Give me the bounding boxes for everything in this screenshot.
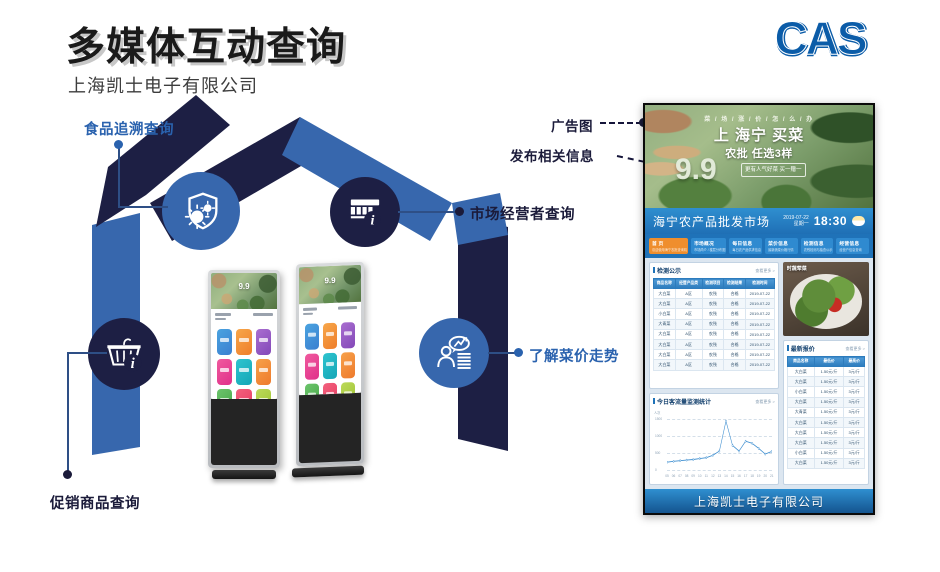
table-cell: 2019-07-22 bbox=[745, 309, 774, 319]
table-row[interactable]: 大白菜A区农残合格2019-07-22 bbox=[654, 350, 775, 360]
connector-dot-market-operator bbox=[455, 207, 464, 216]
chart-x-tick: 08 bbox=[685, 474, 689, 478]
kiosk-tile[interactable] bbox=[236, 329, 251, 355]
callout-publish-info: 发布相关信息 bbox=[510, 145, 594, 165]
kiosk-tile[interactable] bbox=[323, 383, 337, 395]
table-cell: 合格 bbox=[724, 350, 746, 360]
table-cell: 农残 bbox=[702, 339, 724, 349]
kiosk-tile[interactable] bbox=[305, 353, 319, 380]
inspection-table-head: 商品名称经营产品类检测项目检测结果检测时间 bbox=[654, 279, 775, 289]
chart-x-tick: 14 bbox=[724, 474, 728, 478]
chart-x-tick: 10 bbox=[698, 474, 702, 478]
table-cell: 大白菜 bbox=[787, 377, 814, 387]
chart-x-tick: 11 bbox=[705, 474, 708, 478]
kiosk-tile[interactable] bbox=[256, 329, 271, 355]
table-col-header: 经营产品类 bbox=[675, 279, 702, 289]
nav-title: 市场概况 bbox=[694, 240, 725, 247]
table-row[interactable]: 大青菜A区农残合格2019-07-22 bbox=[654, 319, 775, 329]
connector-food-trace-horizontal bbox=[118, 206, 168, 208]
table-col-header: 最低价 bbox=[814, 357, 844, 367]
table-col-header: 最高价 bbox=[844, 357, 865, 367]
chart-x-tick: 17 bbox=[744, 474, 748, 478]
table-cell: 3元/斤 bbox=[844, 377, 865, 387]
kiosk-tile[interactable] bbox=[323, 353, 337, 380]
table-cell: 大白菜 bbox=[787, 428, 814, 438]
diagram-node-food-trace[interactable] bbox=[162, 172, 240, 250]
table-cell: 合格 bbox=[724, 329, 746, 339]
kiosk-device-right: 9.9 bbox=[296, 262, 364, 478]
connector-dot-food-trace bbox=[114, 140, 123, 149]
table-cell: 大白菜 bbox=[654, 360, 676, 370]
table-col-header: 检测项目 bbox=[702, 279, 724, 289]
nav-button-market-overview[interactable]: 市场概况 市场简介 / 楼层分布图 bbox=[691, 238, 726, 254]
table-cell: A区 bbox=[675, 339, 702, 349]
nav-title: 首 页 bbox=[652, 240, 687, 247]
table-cell: 3元/斤 bbox=[844, 397, 865, 407]
table-cell: 大白菜 bbox=[787, 417, 814, 427]
quotes-table: 商品名称最低价最高价 大白菜1.50元/斤3元/斤大白菜1.50元/斤3元/斤小… bbox=[787, 356, 865, 469]
chart-y-tick: 1500 bbox=[655, 417, 662, 421]
table-cell: 小白菜 bbox=[787, 448, 814, 458]
content-column-right: 时蔬荤菜 最新报价 查看更多 > 商品名称最低价最高价 大白菜1.50元/斤3元… bbox=[783, 262, 869, 485]
ad-top-line: 菜 / 场 / 涨 / 价 / 怎 / 么 / 办 bbox=[645, 114, 873, 123]
table-cell: 2019-07-22 bbox=[745, 350, 774, 360]
ad-badge: 更有人气好菜 买一赠一 bbox=[741, 163, 806, 177]
kiosk-left-header bbox=[211, 309, 277, 323]
table-cell: 3元/斤 bbox=[844, 428, 865, 438]
table-row[interactable]: 小白菜A区农残合格2019-07-22 bbox=[654, 309, 775, 319]
diagram-node-price-trend[interactable] bbox=[419, 318, 489, 388]
table-row[interactable]: 小白菜1.50元/斤3元/斤 bbox=[787, 387, 864, 397]
kiosk-tile[interactable] bbox=[217, 329, 232, 355]
panel-quotes-header: 最新报价 查看更多 > bbox=[787, 344, 865, 353]
connector-promotion-vertical bbox=[67, 352, 69, 474]
nav-title: 每日信息 bbox=[732, 240, 761, 247]
kiosk-tile[interactable] bbox=[217, 359, 232, 385]
table-row[interactable]: 大白菜1.50元/斤3元/斤 bbox=[787, 428, 864, 438]
nav-sub: 经营户信息查询 bbox=[839, 247, 868, 252]
table-cell: 农残 bbox=[702, 299, 724, 309]
callout-ad-image: 广告图 bbox=[551, 115, 593, 135]
table-cell: 小白菜 bbox=[654, 309, 676, 319]
table-cell: 1.50元/斤 bbox=[814, 428, 844, 438]
chart-x-tick: 15 bbox=[731, 474, 735, 478]
table-cell: 合格 bbox=[724, 309, 746, 319]
kiosk-screen-mockup: 菜 / 场 / 涨 / 价 / 怎 / 么 / 办 上 海宁 买菜 农批 任选3… bbox=[643, 103, 875, 515]
date-block: 2019-07-22 星期一 bbox=[783, 215, 809, 228]
table-col-header: 商品名称 bbox=[787, 357, 814, 367]
table-col-header: 检测时间 bbox=[745, 279, 774, 289]
page-title: 多媒体互动查询 bbox=[66, 16, 346, 72]
kiosk-right-frame: 9.9 bbox=[296, 262, 364, 467]
kiosk-tile[interactable] bbox=[305, 383, 319, 395]
table-col-header: 检测结果 bbox=[724, 279, 746, 289]
chart-plot-area: 1500100050000506070809101112131415161718… bbox=[667, 419, 772, 470]
kiosk-left-ad: 9.9 bbox=[211, 273, 277, 309]
table-cell: 合格 bbox=[724, 299, 746, 309]
chart-x-tick: 19 bbox=[757, 474, 761, 478]
chart-x-tick: 05 bbox=[665, 474, 669, 478]
table-cell: 农残 bbox=[702, 350, 724, 360]
connector-dot-promotion bbox=[63, 470, 72, 479]
table-cell: 3元/斤 bbox=[844, 458, 865, 468]
chart-x-tick: 16 bbox=[737, 474, 741, 478]
chart-x-tick: 06 bbox=[672, 474, 676, 478]
nav-button-inspection-info[interactable]: 检测信息 农残检测与抽查公示 bbox=[801, 238, 834, 254]
nav-sub: 欢迎使用海宁农批查询机 bbox=[652, 247, 687, 252]
panel-inspection-title: 检测公示 bbox=[653, 266, 681, 275]
panel-quotes: 最新报价 查看更多 > 商品名称最低价最高价 大白菜1.50元/斤3元/斤大白菜… bbox=[783, 340, 869, 485]
traffic-chart: 人次 1500100050000506070809101112131415161… bbox=[653, 409, 775, 481]
quotes-table-head: 商品名称最低价最高价 bbox=[787, 357, 864, 367]
table-cell: 农残 bbox=[702, 289, 724, 299]
panel-quotes-more[interactable]: 查看更多 > bbox=[846, 346, 865, 352]
table-cell: 合格 bbox=[724, 319, 746, 329]
table-cell: 1.50元/斤 bbox=[814, 387, 844, 397]
connector-promotion-horizontal bbox=[67, 352, 107, 354]
table-cell: 1.50元/斤 bbox=[814, 377, 844, 387]
table-row[interactable]: 大白菜A区农残合格2019-07-22 bbox=[654, 329, 775, 339]
diagram-node-promotion[interactable]: i bbox=[88, 318, 160, 390]
table-row[interactable]: 大白菜1.50元/斤3元/斤 bbox=[787, 377, 864, 387]
quotes-table-body: 大白菜1.50元/斤3元/斤大白菜1.50元/斤3元/斤小白菜1.50元/斤3元… bbox=[787, 367, 864, 469]
table-cell: 农残 bbox=[702, 360, 724, 370]
table-cell: A区 bbox=[675, 319, 702, 329]
connector-market-operator bbox=[398, 211, 460, 213]
table-cell: 大白菜 bbox=[787, 397, 814, 407]
table-row[interactable]: 大白菜1.50元/斤3元/斤 bbox=[787, 367, 864, 377]
diagram-node-market-operator[interactable]: i bbox=[330, 177, 400, 247]
panel-chart-header: 今日客流量监测统计 查看更多 > bbox=[653, 397, 775, 406]
table-cell: 3元/斤 bbox=[844, 367, 865, 377]
kiosk-left-tile-grid[interactable] bbox=[211, 323, 277, 399]
nav-button-price-info[interactable]: 菜价信息 最新蔬菜价格行情 bbox=[765, 238, 798, 254]
time-value: 18:30 bbox=[814, 214, 847, 228]
cloud-sun-icon bbox=[852, 216, 865, 226]
table-cell: 大白菜 bbox=[654, 329, 676, 339]
connector-food-trace-vertical bbox=[118, 145, 120, 207]
table-cell: 2019-07-22 bbox=[745, 360, 774, 370]
nav-sub: 农残检测与抽查公示 bbox=[804, 247, 833, 252]
title-bar-right: 2019-07-22 星期一 18:30 bbox=[783, 214, 865, 228]
table-cell: 大白菜 bbox=[787, 367, 814, 377]
diagram-label-price-trend: 了解菜价走势 bbox=[529, 345, 619, 366]
kiosk-tile[interactable] bbox=[256, 389, 271, 399]
kiosk-tile[interactable] bbox=[341, 322, 355, 349]
table-cell: 大白菜 bbox=[654, 350, 676, 360]
table-cell: 1.50元/斤 bbox=[814, 438, 844, 448]
table-cell: 合格 bbox=[724, 339, 746, 349]
table-cell: 2019-07-22 bbox=[745, 319, 774, 329]
table-col-header: 商品名称 bbox=[654, 279, 676, 289]
table-cell: 小白菜 bbox=[787, 387, 814, 397]
table-cell: A区 bbox=[675, 299, 702, 309]
table-cell: 2019-07-22 bbox=[745, 299, 774, 309]
table-cell: 3元/斤 bbox=[844, 387, 865, 397]
panel-chart-title: 今日客流量监测统计 bbox=[653, 397, 711, 406]
table-cell: 大白菜 bbox=[654, 289, 676, 299]
table-cell: 大白菜 bbox=[654, 339, 676, 349]
store-info-icon: i bbox=[345, 192, 385, 232]
table-cell: A区 bbox=[675, 309, 702, 319]
table-cell: 1.50元/斤 bbox=[814, 417, 844, 427]
chart-x-tick: 07 bbox=[678, 474, 682, 478]
kiosk-right-tile-grid[interactable] bbox=[299, 316, 361, 395]
chart-ylabel: 人次 bbox=[654, 410, 660, 415]
table-cell: 大青菜 bbox=[654, 319, 676, 329]
nav-sub: 每日农产品供求信息 bbox=[732, 247, 761, 252]
kiosk-device-left: 9.9 bbox=[208, 270, 280, 479]
nav-button-home[interactable]: 首 页 欢迎使用海宁农批查询机 bbox=[649, 238, 688, 254]
person-chart-icon bbox=[433, 332, 475, 374]
table-cell: 3元/斤 bbox=[844, 438, 865, 448]
table-row[interactable]: 大白菜1.50元/斤3元/斤 bbox=[787, 417, 864, 427]
diagram-label-food-trace: 食品追溯查询 bbox=[84, 118, 174, 139]
kiosk-left-frame: 9.9 bbox=[208, 270, 280, 468]
kiosk-tile[interactable] bbox=[341, 352, 355, 379]
chart-x-tick: 20 bbox=[763, 474, 767, 478]
table-cell: 1.50元/斤 bbox=[814, 407, 844, 417]
table-row[interactable]: 大白菜A区农残合格2019-07-22 bbox=[654, 299, 775, 309]
kiosk-tile[interactable] bbox=[305, 323, 319, 350]
ad-price: 9.9 bbox=[675, 153, 717, 187]
kiosk-right-body bbox=[299, 393, 361, 463]
panel-traffic-chart: 今日客流量监测统计 查看更多 > 人次 15001000500005060708… bbox=[649, 393, 779, 485]
panel-chart-more[interactable]: 查看更多 > bbox=[755, 399, 774, 405]
table-cell: 农残 bbox=[702, 329, 724, 339]
shield-virus-icon bbox=[178, 188, 224, 234]
table-cell: 3元/斤 bbox=[844, 407, 865, 417]
chart-x-tick: 18 bbox=[750, 474, 754, 478]
dish-photo[interactable]: 时蔬荤菜 bbox=[783, 262, 869, 336]
table-row[interactable]: 大白菜1.50元/斤3元/斤 bbox=[787, 397, 864, 407]
chart-x-tick: 09 bbox=[691, 474, 695, 478]
table-row[interactable]: 大白菜A区农残合格2019-07-22 bbox=[654, 360, 775, 370]
table-cell: 2019-07-22 bbox=[745, 289, 774, 299]
ad-main-text: 上 海宁 买菜 bbox=[645, 124, 873, 145]
chart-x-tick: 13 bbox=[718, 474, 722, 478]
basket-info-icon: i bbox=[103, 333, 145, 375]
connector-dot-price-trend bbox=[514, 348, 523, 357]
panel-inspection: 检测公示 查看更多 > 商品名称经营产品类检测项目检测结果检测时间 大白菜A区农… bbox=[649, 262, 779, 389]
chart-x-tick: 21 bbox=[770, 474, 774, 478]
kiosk-tile[interactable] bbox=[323, 323, 337, 350]
kiosk-right-header bbox=[299, 302, 361, 318]
nav-sub: 市场简介 / 楼层分布图 bbox=[694, 247, 725, 252]
nav-title: 检测信息 bbox=[804, 240, 833, 247]
table-row[interactable]: 大白菜A区农残合格2019-07-22 bbox=[654, 339, 775, 349]
table-row[interactable]: 大青菜1.50元/斤3元/斤 bbox=[787, 407, 864, 417]
chart-y-tick: 1000 bbox=[655, 434, 662, 438]
table-cell: 1.50元/斤 bbox=[814, 367, 844, 377]
table-cell: 1.50元/斤 bbox=[814, 448, 844, 458]
table-cell: 合格 bbox=[724, 289, 746, 299]
inspection-table: 商品名称经营产品类检测项目检测结果检测时间 大白菜A区农残合格2019-07-2… bbox=[653, 278, 775, 371]
kiosk-tile[interactable] bbox=[236, 359, 251, 385]
table-cell: A区 bbox=[675, 289, 702, 299]
table-cell: 1.50元/斤 bbox=[814, 397, 844, 407]
nav-title: 经营信息 bbox=[839, 240, 868, 247]
inspection-table-body: 大白菜A区农残合格2019-07-22大白菜A区农残合格2019-07-22小白… bbox=[654, 289, 775, 371]
screen-ad-banner[interactable]: 菜 / 场 / 涨 / 价 / 怎 / 么 / 办 上 海宁 买菜 农批 任选3… bbox=[645, 105, 873, 208]
cas-logo-text: CAS bbox=[774, 11, 865, 65]
panel-quotes-title: 最新报价 bbox=[787, 344, 815, 353]
callout-line-ad-image bbox=[600, 122, 642, 124]
table-cell: 3元/斤 bbox=[844, 448, 865, 458]
screen-title-bar: 海宁农产品批发市场 2019-07-22 星期一 18:30 bbox=[645, 208, 873, 234]
table-row[interactable]: 小白菜1.50元/斤3元/斤 bbox=[787, 448, 864, 458]
kiosk-left-base bbox=[212, 470, 276, 479]
table-row[interactable]: 大白菜1.50元/斤3元/斤 bbox=[787, 458, 864, 468]
kiosk-left-body bbox=[211, 399, 277, 465]
screen-content: 菜 / 场 / 涨 / 价 / 怎 / 么 / 办 上 海宁 买菜 农批 任选3… bbox=[645, 105, 873, 513]
table-cell: 大白菜 bbox=[787, 438, 814, 448]
slide-canvas: 多媒体互动查询 上海凯士电子有限公司 CAS bbox=[0, 0, 940, 572]
svg-text:i: i bbox=[371, 213, 375, 229]
dish-tag: 时蔬荤菜 bbox=[787, 265, 807, 272]
kiosk-left-screen[interactable]: 9.9 bbox=[211, 273, 277, 399]
cas-logo: CAS bbox=[722, 12, 918, 64]
table-cell: 合格 bbox=[724, 360, 746, 370]
nav-button-operator-info[interactable]: 经营信息 经营户信息查询 bbox=[836, 238, 869, 254]
market-name: 海宁农产品批发市场 bbox=[653, 213, 770, 230]
kiosk-tile[interactable] bbox=[256, 359, 271, 385]
table-row[interactable]: 大白菜1.50元/斤3元/斤 bbox=[787, 438, 864, 448]
table-cell: A区 bbox=[675, 350, 702, 360]
table-cell: 农残 bbox=[702, 319, 724, 329]
content-column-left: 检测公示 查看更多 > 商品名称经营产品类检测项目检测结果检测时间 大白菜A区农… bbox=[649, 262, 779, 485]
screen-main-content: 检测公示 查看更多 > 商品名称经营产品类检测项目检测结果检测时间 大白菜A区农… bbox=[645, 258, 873, 489]
table-cell: 大青菜 bbox=[787, 407, 814, 417]
nav-button-daily-info[interactable]: 每日信息 每日农产品供求信息 bbox=[729, 238, 762, 254]
table-row[interactable]: 大白菜A区农残合格2019-07-22 bbox=[654, 289, 775, 299]
kiosk-tile[interactable] bbox=[236, 389, 251, 399]
table-cell: A区 bbox=[675, 329, 702, 339]
kiosk-tile[interactable] bbox=[217, 389, 232, 399]
panel-inspection-more[interactable]: 查看更多 > bbox=[755, 268, 774, 274]
table-cell: 大白菜 bbox=[654, 299, 676, 309]
table-cell: 农残 bbox=[702, 309, 724, 319]
diagram-label-promotion: 促销商品查询 bbox=[50, 492, 140, 513]
chart-gridline bbox=[667, 470, 772, 471]
chart-line-series bbox=[667, 419, 772, 464]
diagram-label-market-operator: 市场经营者查询 bbox=[470, 203, 575, 224]
chart-y-tick: 0 bbox=[655, 468, 657, 472]
nav-sub: 最新蔬菜价格行情 bbox=[768, 247, 797, 252]
kiosk-right-ad: 9.9 bbox=[299, 265, 361, 304]
nav-title: 菜价信息 bbox=[768, 240, 797, 247]
weekday-value: 星期一 bbox=[783, 221, 809, 227]
table-cell: 1.50元/斤 bbox=[814, 458, 844, 468]
table-cell: 大白菜 bbox=[787, 458, 814, 468]
chart-x-tick: 12 bbox=[711, 474, 715, 478]
panel-inspection-header: 检测公示 查看更多 > bbox=[653, 266, 775, 275]
table-cell: 2019-07-22 bbox=[745, 329, 774, 339]
table-cell: A区 bbox=[675, 360, 702, 370]
screen-footer: 上海凯士电子有限公司 bbox=[645, 489, 873, 513]
screen-navbar[interactable]: 首 页 欢迎使用海宁农批查询机 市场概况 市场简介 / 楼层分布图 每日信息 每… bbox=[645, 234, 873, 258]
kiosk-right-screen[interactable]: 9.9 bbox=[299, 265, 361, 395]
table-cell: 2019-07-22 bbox=[745, 339, 774, 349]
table-cell: 3元/斤 bbox=[844, 417, 865, 427]
chart-y-tick: 500 bbox=[655, 451, 660, 455]
